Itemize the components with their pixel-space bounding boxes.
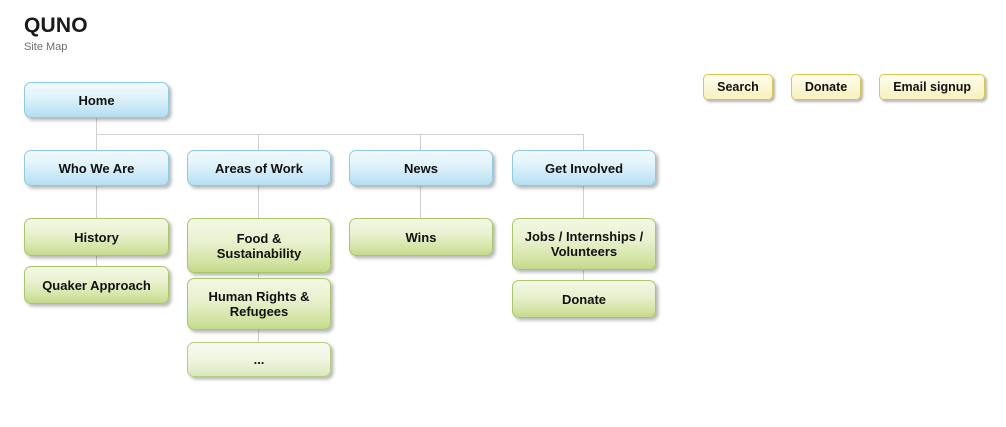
node-donate[interactable]: Donate <box>512 280 656 318</box>
node-areas-of-work[interactable]: Areas of Work <box>187 150 331 186</box>
node-wins[interactable]: Wins <box>349 218 493 256</box>
node-donate-label: Donate <box>519 292 649 307</box>
node-quaker-approach-label: Quaker Approach <box>31 278 162 293</box>
node-who-we-are[interactable]: Who We Are <box>24 150 169 186</box>
sitemap-nodes: Home Who We Are Areas of Work News Get I… <box>0 0 1006 427</box>
node-quaker-approach[interactable]: Quaker Approach <box>24 266 169 304</box>
node-home-label: Home <box>31 93 162 108</box>
node-news-label: News <box>356 161 486 176</box>
node-areas-of-work-more[interactable]: ... <box>187 342 331 377</box>
node-news[interactable]: News <box>349 150 493 186</box>
node-jobs-internships-volunteers-label: Jobs / Internships / Volunteers <box>519 229 649 259</box>
node-human-rights-and-refugees[interactable]: Human Rights & Refugees <box>187 278 331 330</box>
node-human-rights-and-refugees-label: Human Rights & Refugees <box>194 289 324 319</box>
node-wins-label: Wins <box>356 230 486 245</box>
node-history[interactable]: History <box>24 218 169 256</box>
node-areas-of-work-more-label: ... <box>194 352 324 367</box>
node-areas-of-work-label: Areas of Work <box>194 161 324 176</box>
node-get-involved[interactable]: Get Involved <box>512 150 656 186</box>
node-get-involved-label: Get Involved <box>519 161 649 176</box>
sitemap-diagram: Home Who We Are Areas of Work News Get I… <box>0 0 1006 427</box>
node-food-and-sustainability[interactable]: Food & Sustainability <box>187 218 331 273</box>
node-food-and-sustainability-label: Food & Sustainability <box>194 231 324 261</box>
node-who-we-are-label: Who We Are <box>31 161 162 176</box>
node-jobs-internships-volunteers[interactable]: Jobs / Internships / Volunteers <box>512 218 656 270</box>
node-home[interactable]: Home <box>24 82 169 118</box>
node-history-label: History <box>31 230 162 245</box>
